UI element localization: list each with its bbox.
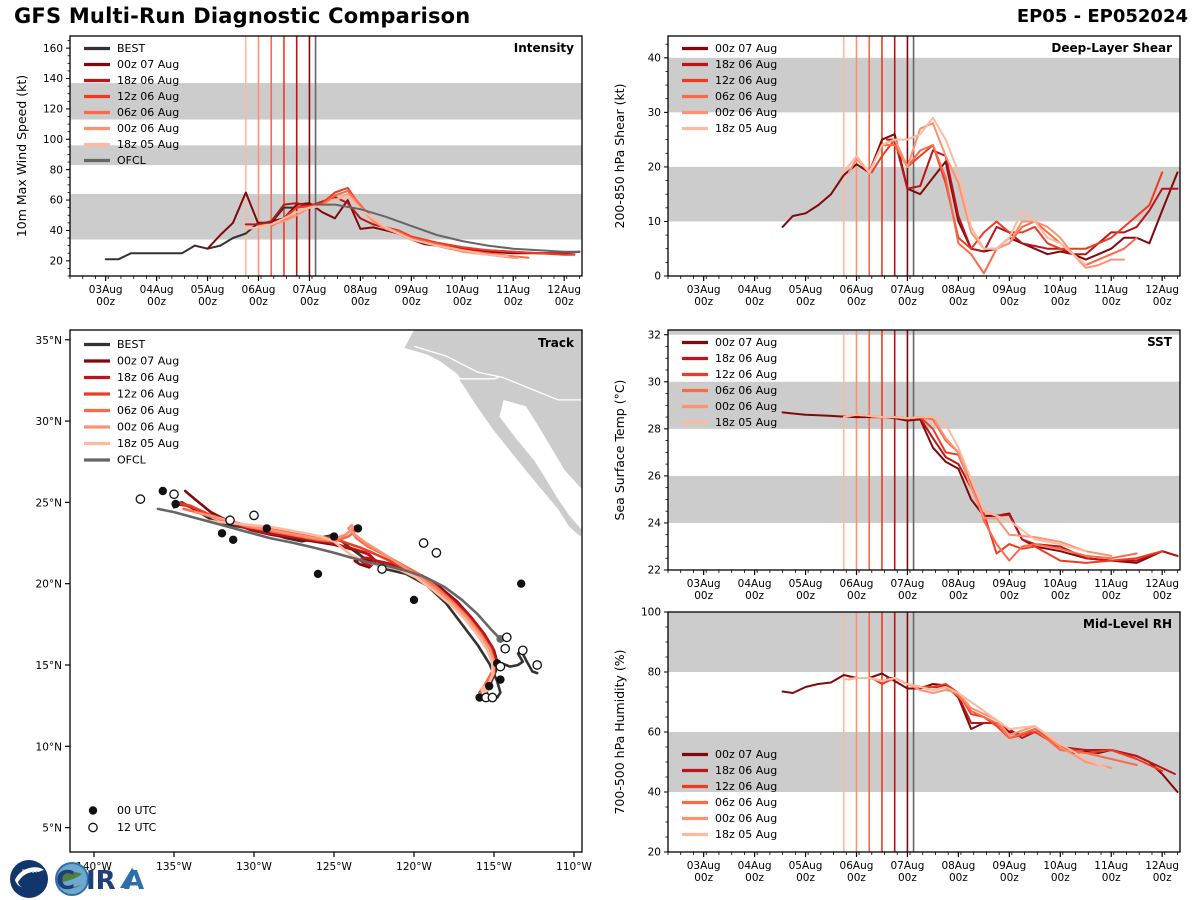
x-tick-hour-label: 00z — [1000, 590, 1019, 602]
x-tick-label: 06Aug — [840, 860, 874, 872]
legend-label: BEST — [117, 42, 145, 55]
legend-label: 18z 06 Aug — [117, 371, 179, 384]
y-tick-label: 20 — [50, 255, 63, 267]
track-point-12utc — [488, 693, 496, 701]
y-tick-label: 0 — [654, 271, 661, 283]
x-tick-hour-label: 00z — [949, 590, 968, 602]
x-tick-label: 03Aug — [89, 284, 123, 296]
x-tick-hour-label: 00z — [694, 590, 713, 602]
track-point-00utc — [517, 579, 525, 587]
lat-tick-label: 35°N — [36, 335, 62, 347]
legend-label: 18z 05 Aug — [715, 828, 777, 841]
x-tick-label: 03Aug — [687, 860, 721, 872]
x-tick-hour-label: 00z — [847, 590, 866, 602]
x-tick-hour-label: 00z — [1051, 590, 1070, 602]
y-axis-label: 10m Max Wind Speed (kt) — [14, 75, 29, 237]
y-tick-label: 60 — [648, 727, 661, 739]
x-tick-label: 04Aug — [738, 284, 772, 296]
y-axis-label: 200-850 hPa Shear (kt) — [612, 84, 627, 229]
y-tick-label: 160 — [43, 43, 63, 55]
legend-label: 00z 07 Aug — [117, 355, 179, 368]
x-tick-hour-label: 00z — [745, 872, 764, 884]
panel-background — [668, 330, 1180, 570]
marker-legend-00utc — [89, 806, 97, 814]
legend-label: 12z 06 Aug — [715, 74, 777, 87]
x-tick-hour-label: 00z — [847, 296, 866, 308]
legend-label: OFCL — [117, 454, 147, 467]
x-tick-hour-label: 00z — [847, 872, 866, 884]
lat-tick-label: 5°N — [42, 823, 62, 835]
x-tick-hour-label: 00z — [745, 590, 764, 602]
y-tick-label: 30 — [648, 107, 661, 119]
legend-label: 00z 06 Aug — [715, 400, 777, 413]
panel-title-track: Track — [538, 336, 575, 350]
x-tick-label: 04Aug — [738, 578, 772, 590]
track-point-00utc — [171, 500, 179, 508]
track-point-00utc — [496, 675, 504, 683]
x-tick-hour-label: 00z — [1153, 872, 1172, 884]
x-tick-hour-label: 00z — [796, 872, 815, 884]
marker-legend-12utc — [89, 823, 97, 831]
x-tick-hour-label: 00z — [96, 296, 115, 308]
noaa-logo: NOAA — [10, 860, 48, 898]
track-point-12utc — [501, 645, 509, 653]
x-tick-label: 11Aug — [1094, 284, 1128, 296]
lat-tick-label: 30°N — [36, 416, 62, 428]
legend-label: 18z 06 Aug — [715, 58, 777, 71]
legend-label: BEST — [117, 338, 145, 351]
track-point-12utc — [496, 662, 504, 670]
x-tick-label: 03Aug — [687, 578, 721, 590]
y-tick-label: 20 — [648, 847, 661, 859]
x-tick-label: 08Aug — [343, 284, 377, 296]
x-tick-label: 06Aug — [840, 578, 874, 590]
lat-tick-label: 10°N — [36, 741, 62, 753]
legend-label: 18z 05 Aug — [117, 138, 179, 151]
x-tick-hour-label: 00z — [1051, 296, 1070, 308]
y-tick-label: 140 — [43, 73, 63, 85]
x-tick-hour-label: 00z — [1000, 872, 1019, 884]
legend-label: 00z 06 Aug — [117, 122, 179, 135]
x-tick-hour-label: 00z — [796, 296, 815, 308]
legend-label: OFCL — [117, 154, 147, 167]
x-tick-hour-label: 00z — [1102, 296, 1121, 308]
track-point-00utc — [485, 682, 493, 690]
svg-text:NOAA: NOAA — [22, 869, 37, 875]
x-tick-label: 07Aug — [891, 284, 925, 296]
x-tick-label: 09Aug — [992, 284, 1026, 296]
legend-label: 12z 06 Aug — [117, 90, 179, 103]
x-tick-hour-label: 00z — [453, 296, 472, 308]
x-tick-label: 07Aug — [293, 284, 327, 296]
x-tick-hour-label: 00z — [198, 296, 217, 308]
x-tick-hour-label: 00z — [147, 296, 166, 308]
x-tick-label: 10Aug — [445, 284, 479, 296]
track-point-12utc — [226, 516, 234, 524]
x-tick-label: 06Aug — [242, 284, 276, 296]
x-tick-hour-label: 00z — [555, 296, 574, 308]
cira-logo: C IR A — [55, 862, 144, 896]
x-tick-label: 09Aug — [992, 578, 1026, 590]
branding-logos: NOAA C IR A — [8, 858, 288, 900]
y-axis-label: Sea Surface Temp (°C) — [612, 380, 627, 521]
lon-tick-label: 120°W — [396, 861, 432, 873]
track-point-12utc — [503, 633, 511, 641]
y-tick-label: 40 — [50, 225, 63, 237]
lon-tick-label: 115°W — [476, 861, 512, 873]
x-tick-hour-label: 00z — [504, 296, 523, 308]
x-tick-hour-label: 00z — [949, 872, 968, 884]
x-tick-hour-label: 00z — [796, 590, 815, 602]
track-point-00utc — [354, 524, 362, 532]
x-tick-label: 09Aug — [394, 284, 428, 296]
legend-label: 06z 06 Aug — [117, 404, 179, 417]
x-tick-label: 08Aug — [941, 860, 975, 872]
legend-label: 00z 07 Aug — [117, 58, 179, 71]
x-tick-hour-label: 00z — [300, 296, 319, 308]
lat-tick-label: 15°N — [36, 660, 62, 672]
y-tick-label: 100 — [641, 607, 661, 619]
lat-tick-label: 25°N — [36, 497, 62, 509]
track-point-00utc — [263, 524, 271, 532]
track-point-00utc — [330, 532, 338, 540]
panel-intensity: 2040608010012014016003Aug00z04Aug00z05Au… — [14, 36, 582, 308]
track-point-12utc — [533, 661, 541, 669]
y-tick-label: 40 — [648, 787, 661, 799]
x-tick-label: 05Aug — [789, 860, 823, 872]
track-point-12utc — [519, 646, 527, 654]
x-tick-hour-label: 00z — [1000, 296, 1019, 308]
legend-label: 12z 06 Aug — [117, 388, 179, 401]
y-tick-label: 22 — [648, 565, 661, 577]
x-tick-hour-label: 00z — [402, 296, 421, 308]
track-point-00utc — [410, 596, 418, 604]
shaded-band — [668, 330, 1180, 335]
legend-label: 18z 05 Aug — [715, 416, 777, 429]
track-point-12utc — [250, 511, 258, 519]
shaded-band — [668, 476, 1180, 523]
legend-label: 00z 07 Aug — [715, 42, 777, 55]
x-tick-label: 05Aug — [789, 578, 823, 590]
legend-label: 06z 06 Aug — [715, 90, 777, 103]
y-tick-label: 10 — [648, 216, 661, 228]
x-tick-hour-label: 00z — [249, 296, 268, 308]
y-tick-label: 32 — [648, 329, 661, 341]
lon-tick-label: 125°W — [316, 861, 352, 873]
panel-sst: 22242628303203Aug00z04Aug00z05Aug00z06Au… — [612, 329, 1180, 602]
svg-text:IR: IR — [86, 866, 116, 896]
x-tick-label: 08Aug — [941, 284, 975, 296]
legend-label: 18z 06 Aug — [715, 764, 777, 777]
legend-label: 00z 07 Aug — [715, 748, 777, 761]
x-tick-label: 05Aug — [191, 284, 225, 296]
legend-label: 18z 05 Aug — [715, 122, 777, 135]
y-tick-label: 80 — [648, 667, 661, 679]
marker-legend-label: 00 UTC — [117, 804, 157, 817]
x-tick-label: 04Aug — [738, 860, 772, 872]
x-tick-label: 05Aug — [789, 284, 823, 296]
y-tick-label: 100 — [43, 134, 63, 146]
x-tick-label: 12Aug — [1145, 284, 1179, 296]
track-point-12utc — [432, 549, 440, 557]
lat-tick-label: 20°N — [36, 579, 62, 591]
x-tick-label: 12Aug — [547, 284, 581, 296]
x-tick-hour-label: 00z — [745, 296, 764, 308]
x-tick-label: 07Aug — [891, 860, 925, 872]
x-tick-hour-label: 00z — [1102, 590, 1121, 602]
x-tick-label: 10Aug — [1043, 860, 1077, 872]
x-tick-hour-label: 00z — [1051, 872, 1070, 884]
x-tick-label: 12Aug — [1145, 860, 1179, 872]
x-tick-hour-label: 00z — [1153, 590, 1172, 602]
track-point-00utc — [314, 570, 322, 578]
legend-label: 12z 06 Aug — [715, 780, 777, 793]
legend-label: 18z 06 Aug — [117, 74, 179, 87]
x-tick-hour-label: 00z — [694, 872, 713, 884]
x-tick-label: 08Aug — [941, 578, 975, 590]
x-tick-label: 06Aug — [840, 284, 874, 296]
y-axis-label: 700-500 hPa Humidity (%) — [612, 649, 627, 814]
track-point-12utc — [378, 565, 386, 573]
panel-rh: 2040608010003Aug00z04Aug00z05Aug00z06Aug… — [612, 607, 1180, 884]
panel-title-sst: SST — [1147, 335, 1173, 349]
x-tick-hour-label: 00z — [351, 296, 370, 308]
panel-title-intensity: Intensity — [514, 41, 574, 55]
legend-label: 00z 07 Aug — [715, 336, 777, 349]
y-tick-label: 20 — [648, 162, 661, 174]
x-tick-label: 11Aug — [496, 284, 530, 296]
x-tick-hour-label: 00z — [1153, 296, 1172, 308]
legend-label: 18z 06 Aug — [715, 352, 777, 365]
legend-label: 00z 06 Aug — [117, 421, 179, 434]
track-point-12utc — [136, 495, 144, 503]
x-tick-hour-label: 00z — [898, 296, 917, 308]
y-tick-label: 28 — [648, 423, 661, 435]
y-tick-label: 60 — [50, 195, 63, 207]
track-point-12utc — [419, 539, 427, 547]
y-tick-label: 30 — [648, 376, 661, 388]
x-tick-label: 07Aug — [891, 578, 925, 590]
y-tick-label: 120 — [43, 104, 63, 116]
track-point-00utc — [218, 529, 226, 537]
legend-label: 12z 06 Aug — [715, 368, 777, 381]
x-tick-label: 03Aug — [687, 284, 721, 296]
x-tick-label: 11Aug — [1094, 860, 1128, 872]
panel-track: 5°N10°N15°N20°N25°N30°N35°N140°W135°W130… — [36, 330, 593, 873]
x-tick-label: 12Aug — [1145, 578, 1179, 590]
x-tick-hour-label: 00z — [898, 872, 917, 884]
x-tick-label: 04Aug — [140, 284, 174, 296]
panel-shear: 01020304003Aug00z04Aug00z05Aug00z06Aug00… — [612, 36, 1180, 308]
y-tick-label: 24 — [648, 518, 662, 530]
x-tick-hour-label: 00z — [949, 296, 968, 308]
svg-text:C: C — [56, 866, 75, 896]
y-tick-label: 80 — [50, 164, 63, 176]
y-tick-label: 26 — [648, 470, 662, 482]
track-point-00utc — [229, 536, 237, 544]
track-point-12utc — [170, 490, 178, 498]
panel-title-rh: Mid-Level RH — [1083, 617, 1172, 631]
x-tick-label: 10Aug — [1043, 578, 1077, 590]
legend-label: 00z 06 Aug — [715, 812, 777, 825]
x-tick-hour-label: 00z — [1102, 872, 1121, 884]
x-tick-hour-label: 00z — [694, 296, 713, 308]
legend-label: 06z 06 Aug — [117, 106, 179, 119]
x-tick-label: 10Aug — [1043, 284, 1077, 296]
y-tick-label: 40 — [648, 52, 661, 64]
panel-title-shear: Deep-Layer Shear — [1051, 41, 1172, 55]
x-tick-label: 09Aug — [992, 860, 1026, 872]
marker-legend-label: 12 UTC — [117, 821, 157, 834]
x-tick-hour-label: 00z — [898, 590, 917, 602]
track-point-00utc — [159, 487, 167, 495]
legend-label: 00z 06 Aug — [715, 106, 777, 119]
lon-tick-label: 110°W — [556, 861, 592, 873]
x-tick-label: 11Aug — [1094, 578, 1128, 590]
legend-label: 06z 06 Aug — [715, 384, 777, 397]
legend-label: 06z 06 Aug — [715, 796, 777, 809]
diagnostic-figure: 2040608010012014016003Aug00z04Aug00z05Au… — [0, 0, 1200, 900]
legend-label: 18z 05 Aug — [117, 437, 179, 450]
